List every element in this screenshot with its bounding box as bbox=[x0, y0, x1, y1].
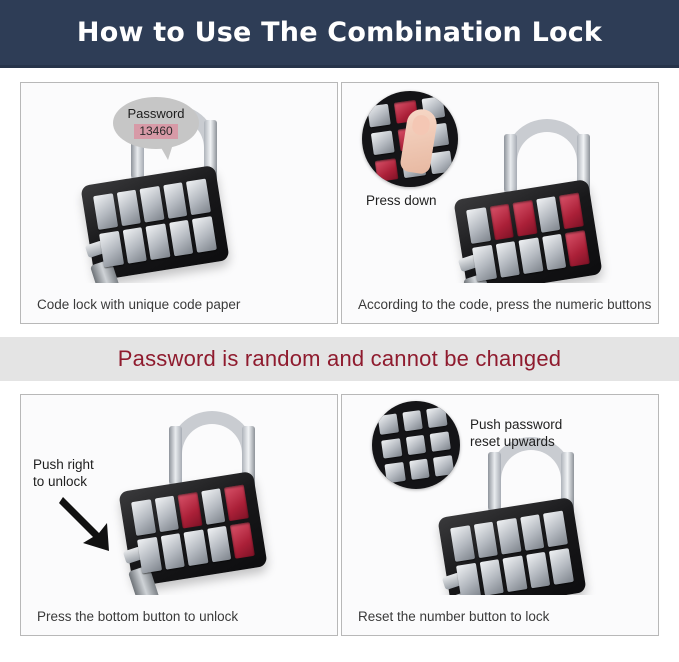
lock-key bbox=[146, 223, 171, 260]
lock-key bbox=[122, 227, 147, 264]
lock-key bbox=[384, 462, 405, 483]
password-code-value: 13460 bbox=[134, 124, 177, 139]
lock-key bbox=[371, 131, 395, 155]
lock-key-pressed bbox=[178, 492, 203, 529]
panel-reset-stage: Push password reset upwards bbox=[342, 395, 658, 595]
lock-key bbox=[192, 216, 217, 253]
lock-key bbox=[378, 413, 399, 434]
lock-key bbox=[466, 207, 491, 244]
padlock-illustration bbox=[452, 119, 602, 283]
lock-key bbox=[160, 533, 185, 570]
panel-row-bottom: Push right to unlock bbox=[0, 394, 679, 636]
panel-press-buttons-stage: Press down bbox=[342, 83, 658, 283]
lock-key bbox=[542, 234, 567, 271]
lock-key bbox=[495, 241, 520, 278]
panel-code-paper-stage: Password 13460 bbox=[21, 83, 337, 283]
lock-key bbox=[473, 522, 498, 559]
lock-key bbox=[381, 438, 402, 459]
panel-caption: Press the bottom button to unlock bbox=[37, 609, 238, 624]
lock-key bbox=[116, 190, 141, 227]
lock-body bbox=[437, 497, 586, 595]
lock-key bbox=[520, 514, 545, 551]
lock-key bbox=[163, 182, 188, 219]
closeup-keypad bbox=[372, 401, 460, 489]
password-speech-bubble: Password 13460 bbox=[113, 97, 199, 149]
warning-banner-text: Password is random and cannot be changed bbox=[118, 346, 561, 372]
lock-key bbox=[503, 555, 528, 592]
lock-key bbox=[367, 104, 391, 128]
padlock-illustration bbox=[117, 411, 267, 581]
lock-keypad bbox=[131, 485, 255, 574]
lock-key bbox=[536, 196, 561, 233]
lock-key bbox=[402, 410, 423, 431]
panel-caption: According to the code, press the numeric… bbox=[358, 297, 651, 312]
panel-press-buttons: Press down bbox=[341, 82, 659, 324]
lock-key bbox=[131, 499, 156, 536]
lock-keypad bbox=[93, 179, 217, 268]
warning-banner: Password is random and cannot be changed bbox=[0, 337, 679, 381]
push-right-arrow-icon bbox=[59, 493, 119, 555]
password-label: Password bbox=[127, 107, 184, 121]
lock-body bbox=[453, 179, 602, 283]
lock-key bbox=[93, 193, 118, 230]
lock-key bbox=[186, 179, 211, 216]
lock-key bbox=[430, 431, 451, 452]
reset-closeup-inset bbox=[372, 401, 460, 489]
page-title: How to Use The Combination Lock bbox=[77, 17, 602, 48]
lock-key-pressed bbox=[559, 193, 584, 230]
panel-caption: Reset the number button to lock bbox=[358, 609, 549, 624]
lock-key-pressed bbox=[224, 485, 249, 522]
panel-code-paper: Password 13460 bbox=[20, 82, 338, 324]
lock-key bbox=[140, 186, 165, 223]
panel-reset: Push password reset upwards bbox=[341, 394, 659, 636]
lock-key bbox=[472, 245, 497, 282]
reset-upwards-annotation: Push password reset upwards bbox=[470, 417, 562, 451]
lock-key bbox=[450, 525, 475, 562]
lock-key bbox=[409, 459, 430, 480]
press-down-closeup-inset bbox=[362, 91, 458, 187]
press-down-annotation: Press down bbox=[366, 193, 437, 210]
lock-key bbox=[519, 237, 544, 274]
lock-key bbox=[433, 455, 454, 476]
lock-key bbox=[405, 434, 426, 455]
lock-key bbox=[543, 511, 568, 548]
lock-key bbox=[207, 526, 232, 563]
lock-key bbox=[99, 231, 124, 268]
lock-body bbox=[118, 471, 267, 587]
lock-key bbox=[429, 150, 453, 174]
lock-key bbox=[184, 529, 209, 566]
lock-keypad bbox=[450, 511, 574, 595]
lock-key bbox=[456, 563, 481, 595]
panel-caption: Code lock with unique code paper bbox=[37, 297, 240, 312]
lock-key bbox=[201, 488, 226, 525]
lock-key bbox=[549, 548, 574, 585]
lock-key bbox=[426, 407, 447, 428]
panel-unlock: Push right to unlock bbox=[20, 394, 338, 636]
page-header: How to Use The Combination Lock bbox=[0, 0, 679, 68]
push-right-annotation: Push right to unlock bbox=[33, 457, 94, 491]
lock-key bbox=[154, 496, 179, 533]
lock-key-pressed bbox=[489, 204, 514, 241]
lock-key-pressed bbox=[230, 522, 255, 559]
lock-key-pressed bbox=[513, 200, 538, 237]
lock-key-pressed bbox=[565, 230, 590, 267]
panel-unlock-stage: Push right to unlock bbox=[21, 395, 337, 595]
lock-key-pressed bbox=[375, 158, 399, 182]
lock-key bbox=[169, 220, 194, 257]
lock-key bbox=[497, 518, 522, 555]
panel-row-top: Password 13460 bbox=[0, 82, 679, 324]
lock-key bbox=[526, 552, 551, 589]
lock-key bbox=[479, 559, 504, 595]
lock-key bbox=[137, 537, 162, 574]
lock-keypad bbox=[466, 193, 590, 282]
lock-body bbox=[80, 165, 229, 281]
